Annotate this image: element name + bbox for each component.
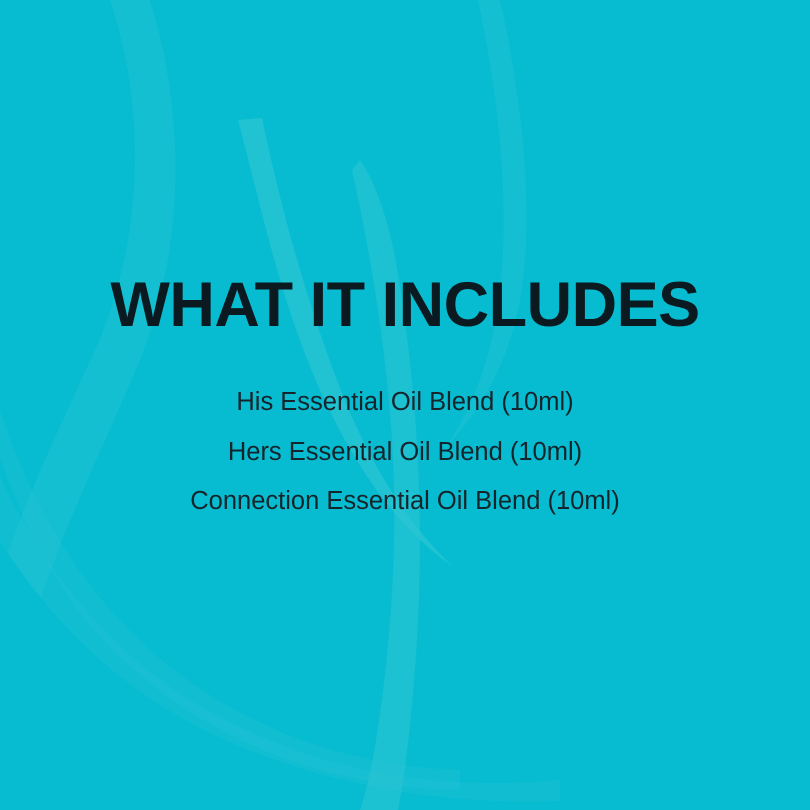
list-item: His Essential Oil Blend (10ml) bbox=[0, 390, 810, 416]
promo-card: WHAT IT INCLUDES His Essential Oil Blend… bbox=[0, 0, 810, 810]
list-item: Hers Essential Oil Blend (10ml) bbox=[0, 440, 810, 466]
page-title: WHAT IT INCLUDES bbox=[0, 272, 810, 338]
includes-list: His Essential Oil Blend (10ml) Hers Esse… bbox=[0, 390, 810, 515]
list-item: Connection Essential Oil Blend (10ml) bbox=[0, 489, 810, 515]
card-content: WHAT IT INCLUDES His Essential Oil Blend… bbox=[0, 0, 810, 810]
